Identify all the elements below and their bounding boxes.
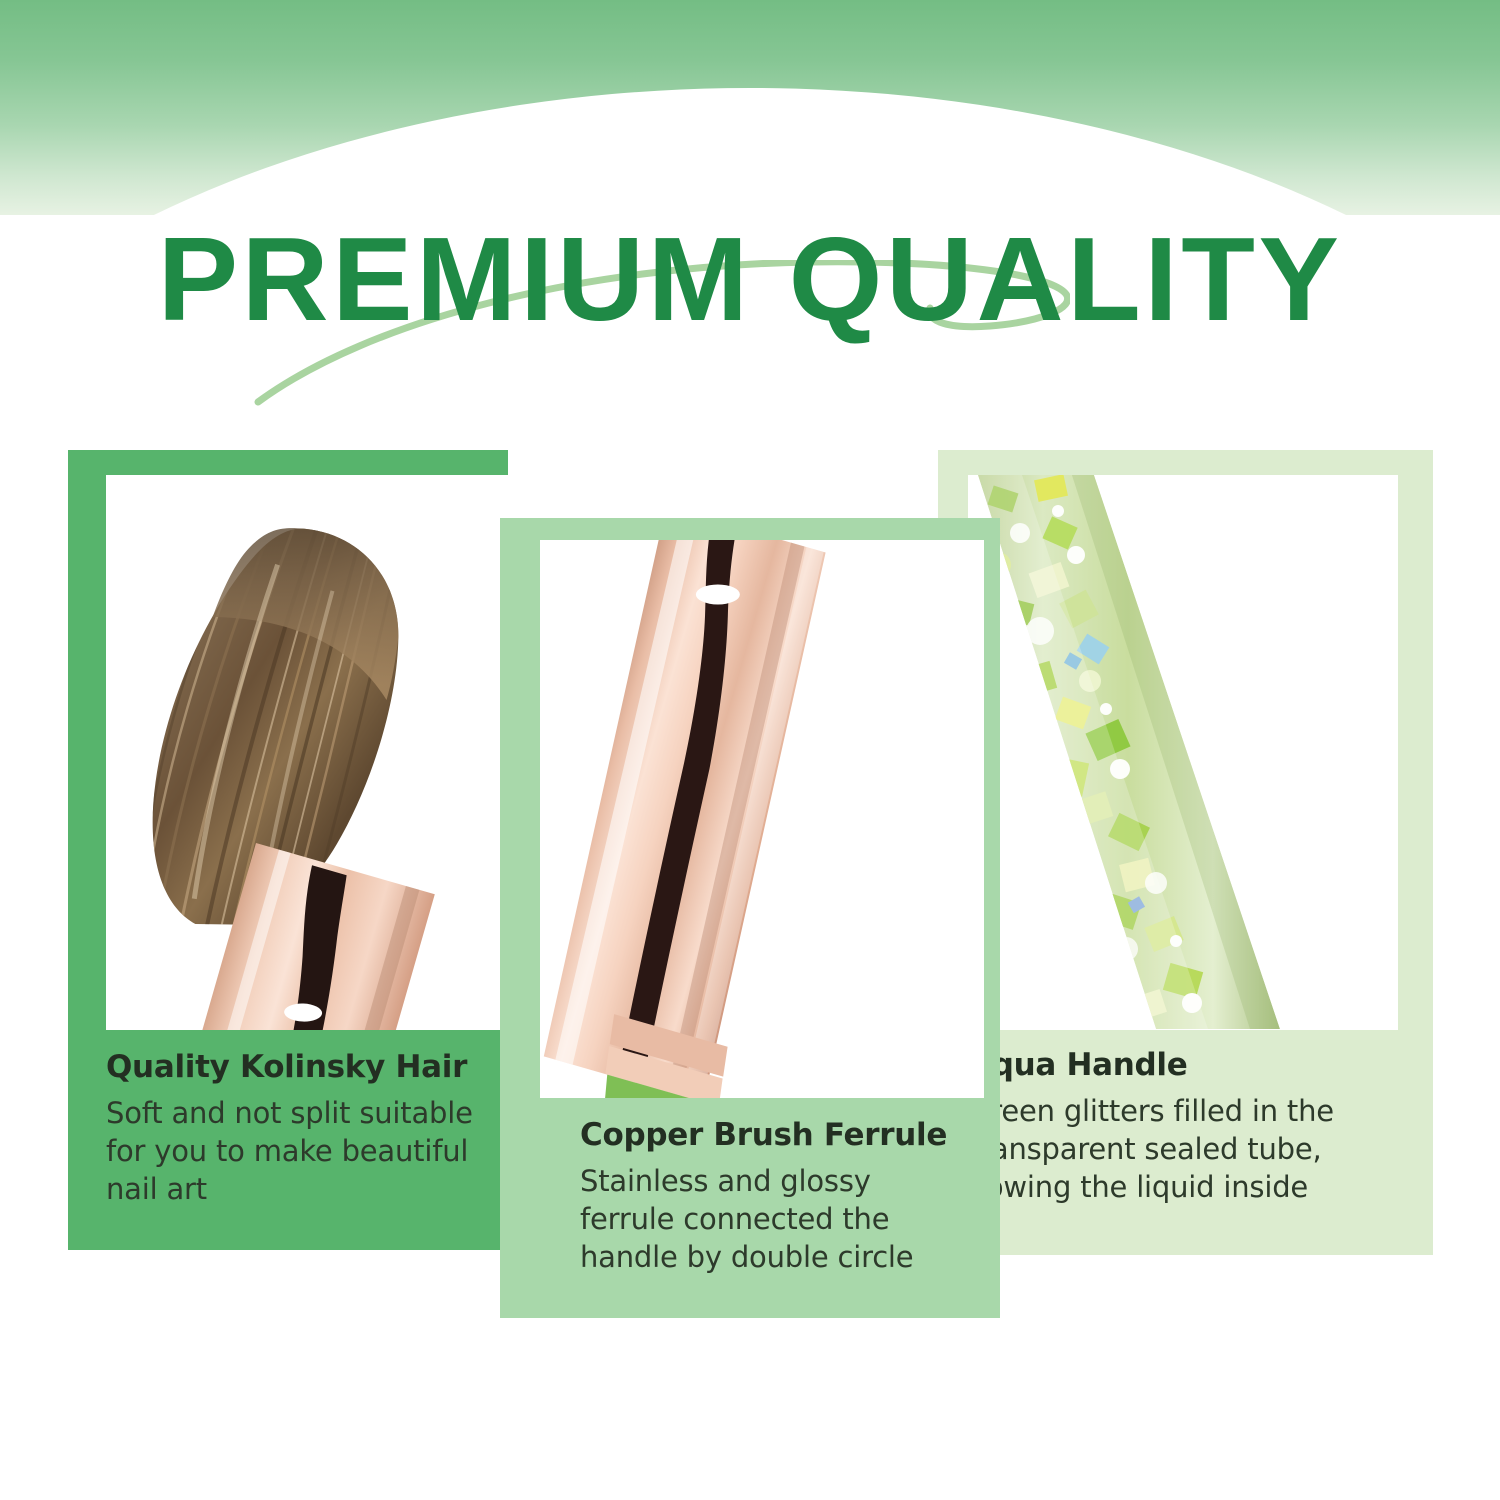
infographic-page: PREMIUM QUALITY xyxy=(0,0,1500,1500)
card-caption: Copper Brush Ferrule Stainless and gloss… xyxy=(500,1118,1000,1276)
page-title: PREMIUM QUALITY xyxy=(0,213,1500,349)
card-image-kolinsky-hair xyxy=(106,475,508,1030)
card-image-copper-ferrule xyxy=(540,540,984,1098)
card-caption: Aqua Handle Green glitters filled in the… xyxy=(938,1048,1433,1206)
feature-card-aqua-handle: Aqua Handle Green glitters filled in the… xyxy=(938,450,1433,1255)
card-title: Copper Brush Ferrule xyxy=(580,1118,970,1154)
header-arc-shape xyxy=(0,88,1500,215)
card-image-aqua-handle xyxy=(968,475,1398,1030)
feature-card-copper-ferrule: Copper Brush Ferrule Stainless and gloss… xyxy=(500,518,1000,1318)
card-caption: Quality Kolinsky Hair Soft and not split… xyxy=(68,1050,508,1208)
card-body: Stainless and glossy ferrule connected t… xyxy=(580,1162,970,1277)
card-title: Quality Kolinsky Hair xyxy=(106,1050,478,1086)
feature-card-kolinsky-hair: Quality Kolinsky Hair Soft and not split… xyxy=(68,450,508,1250)
page-title-block: PREMIUM QUALITY xyxy=(0,205,1500,405)
card-body: Soft and not split suitable for you to m… xyxy=(106,1094,478,1209)
card-title: Aqua Handle xyxy=(968,1048,1403,1084)
card-body: Green glitters filled in the transparent… xyxy=(968,1092,1403,1207)
header-banner xyxy=(0,0,1500,215)
